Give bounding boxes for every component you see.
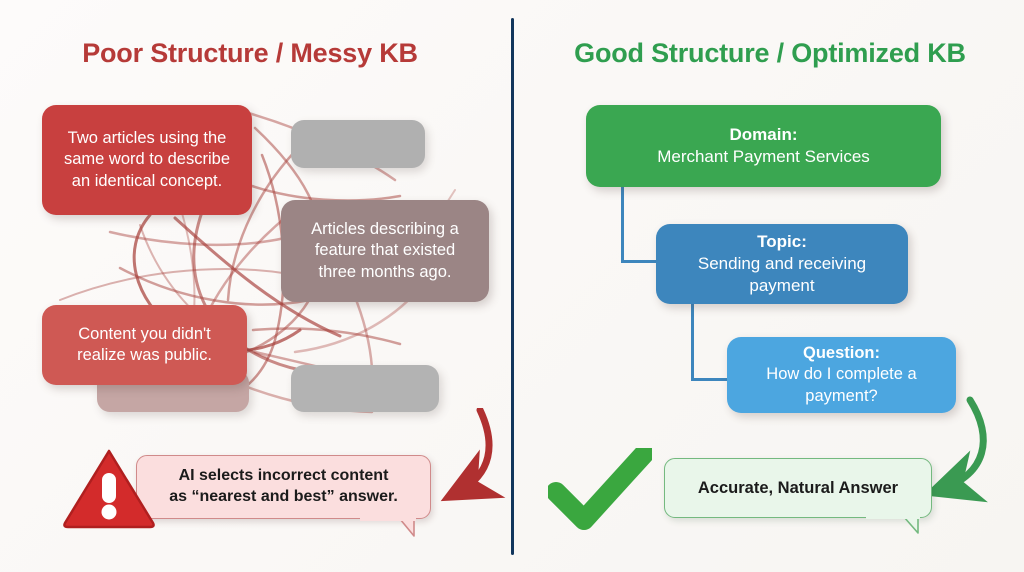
connector-topic-to-question-horizontal [691, 378, 730, 381]
structured-node-domain: Domain: Merchant Payment Services [586, 105, 941, 187]
connector-domain-to-topic-vertical [621, 187, 624, 263]
empty-gray-box-middle [291, 365, 439, 412]
messy-node-unintended-public-label: Content you didn't realize was public. [56, 324, 233, 366]
good-outcome-callout-text: Accurate, Natural Answer [698, 479, 898, 498]
messy-node-outdated-article: Articles describing a feature that exist… [281, 200, 489, 302]
messy-node-unintended-public: Content you didn't realize was public. [42, 305, 247, 385]
messy-node-duplicate-concept-label: Two articles using the same word to desc… [56, 128, 238, 191]
bad-outcome-callout-line1: AI selects incorrect content [179, 467, 389, 484]
messy-node-outdated-article-label: Articles describing a feature that exist… [295, 219, 475, 282]
empty-gray-box-top [291, 120, 425, 168]
structured-node-topic: Topic: Sending and receiving payment [656, 224, 908, 304]
check-mark-icon [548, 448, 652, 532]
structured-node-topic-label: Topic: [757, 232, 807, 251]
messy-node-duplicate-concept: Two articles using the same word to desc… [42, 105, 252, 215]
structured-node-question-label: Question: [803, 344, 880, 362]
good-outcome-callout-tail [866, 500, 936, 536]
structured-node-topic-value: Sending and receiving payment [670, 253, 894, 297]
diagram-canvas: Poor Structure / Messy KB Good Structure… [0, 0, 1024, 572]
connector-topic-to-question-vertical [691, 304, 694, 381]
structured-node-domain-value: Merchant Payment Services [657, 146, 870, 168]
structured-node-question-value: How do I complete a payment? [741, 364, 942, 406]
right-panel-title: Good Structure / Optimized KB [520, 38, 1020, 69]
bad-outcome-callout-tail [360, 500, 430, 538]
warning-triangle-icon [62, 447, 156, 529]
structured-node-question: Question: How do I complete a payment? [727, 337, 956, 413]
structured-node-domain-label: Domain: [730, 125, 798, 144]
connector-domain-to-topic-horizontal [621, 260, 659, 263]
